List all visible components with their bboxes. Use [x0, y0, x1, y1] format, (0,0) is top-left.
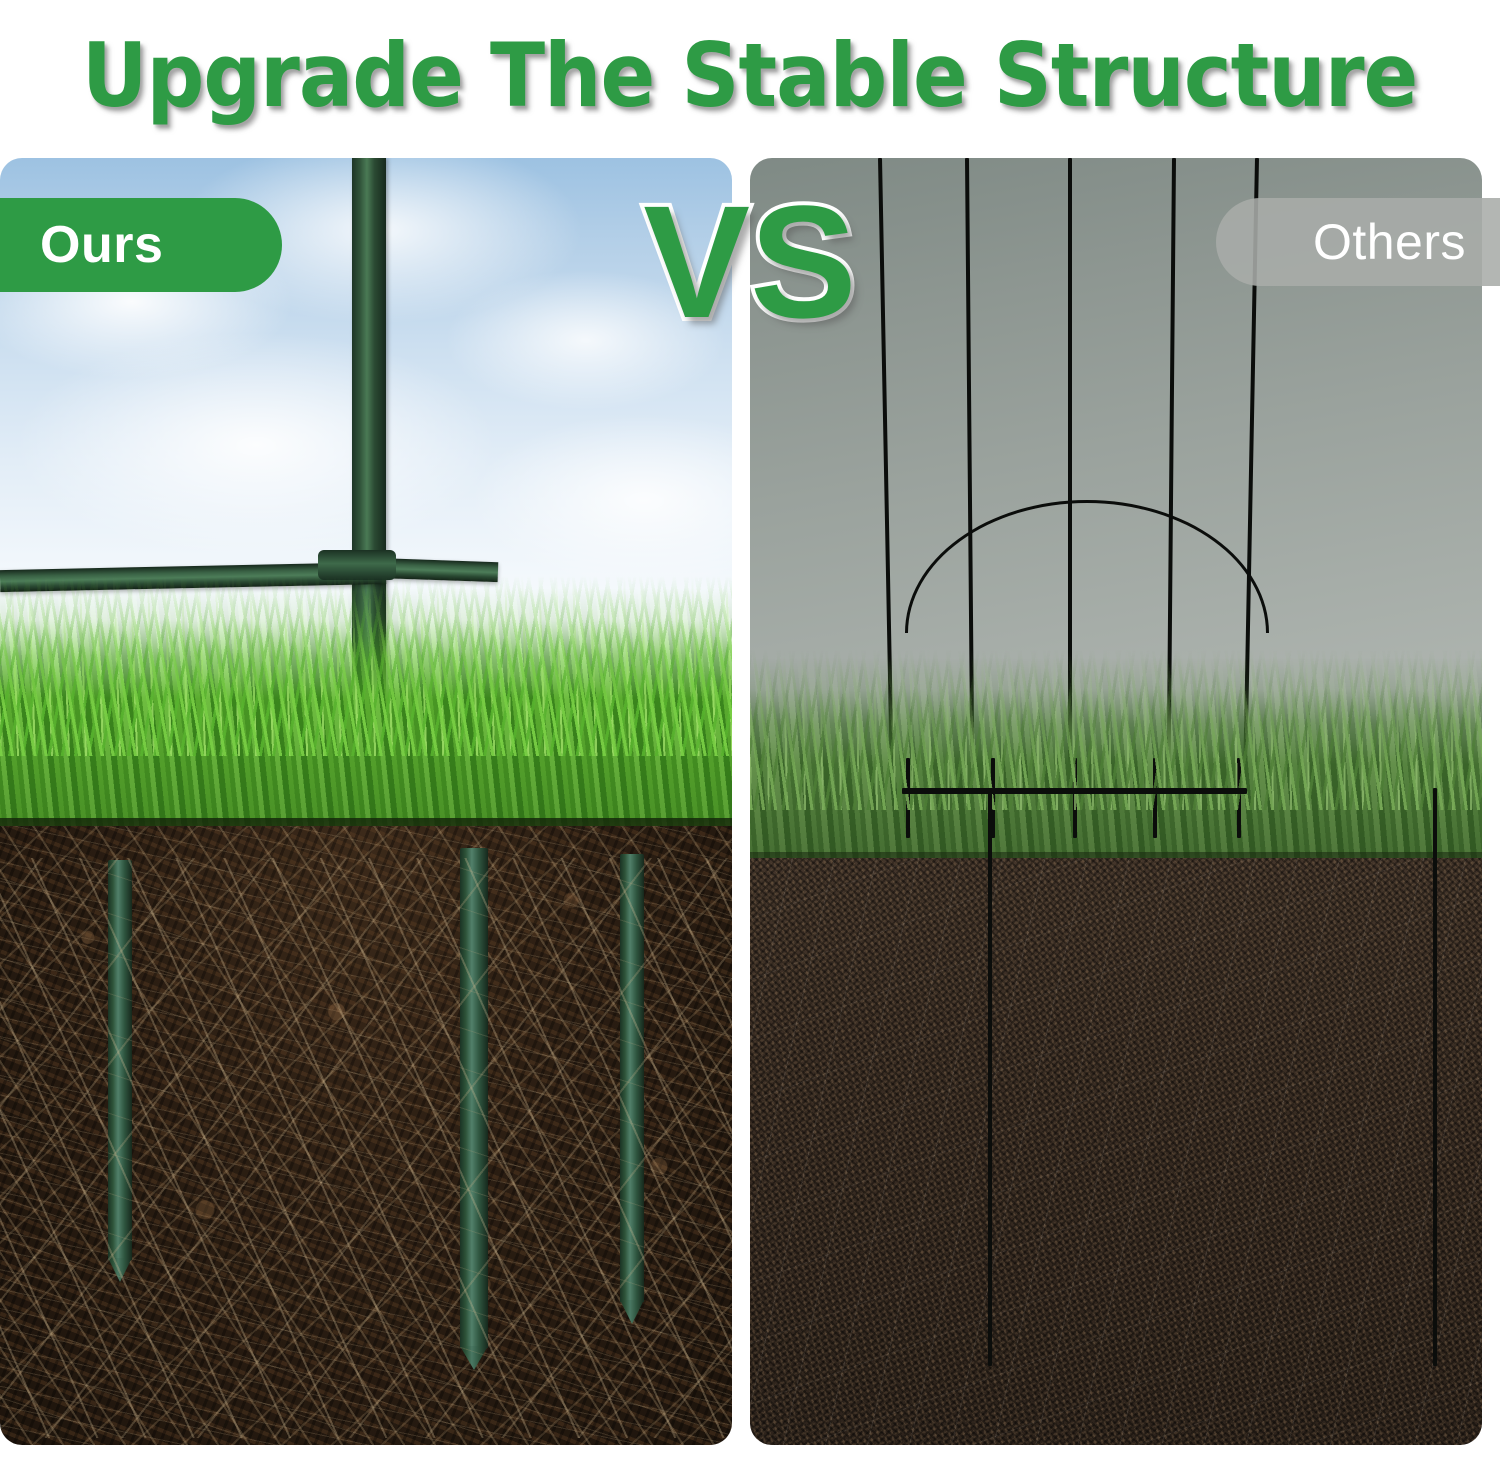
ground-stake-2: [460, 848, 488, 1348]
buried-wire-right: [1433, 788, 1437, 1366]
badge-ours: Ours: [0, 198, 282, 292]
badge-others-label: Others: [1313, 213, 1466, 271]
fence-wire-bottom-rail: [902, 788, 1247, 794]
comparison-panel-others: [750, 158, 1482, 1445]
badge-others: Others: [1216, 198, 1500, 286]
page-title: Upgrade The Stable Structure: [82, 32, 1417, 120]
buried-wire-left: [988, 788, 992, 1366]
grass-blades-ours: [0, 576, 732, 756]
soil-layer-others: [750, 858, 1482, 1445]
badge-ours-label: Ours: [40, 215, 163, 275]
grass-blades-others: [750, 650, 1482, 810]
ground-stake-1: [108, 860, 132, 1260]
comparison-panel-ours: [0, 158, 732, 1445]
ground-stake-3: [620, 854, 644, 1302]
headline-bar: Upgrade The Stable Structure: [0, 0, 1500, 152]
